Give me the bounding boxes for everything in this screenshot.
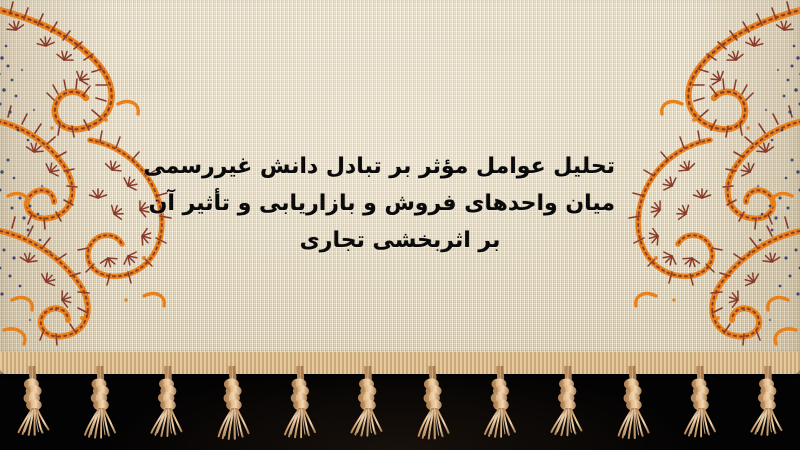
tassel	[743, 365, 791, 450]
tassel	[77, 366, 123, 450]
tassel	[677, 366, 723, 450]
tassel	[343, 365, 391, 450]
tassel	[477, 366, 523, 450]
tassel	[9, 365, 57, 450]
tassel	[143, 365, 191, 450]
tassel	[409, 365, 457, 450]
tassel	[609, 365, 657, 450]
title-block: تحلیل عوامل مؤثر بر تبادل دانش غیررسمی م…	[185, 148, 615, 259]
tassel	[277, 366, 323, 450]
title-card: تحلیل عوامل مؤثر بر تبادل دانش غیررسمی م…	[0, 0, 800, 450]
tassel	[543, 365, 591, 450]
title-line-2: میان واحدهای فروش و بازاریابی و تأثیر آن	[185, 185, 615, 222]
knotted-tassel-fringe	[0, 366, 800, 450]
tassel	[209, 365, 257, 450]
title-line-3: بر اثربخشی تجاری	[185, 222, 615, 259]
title-line-1: تحلیل عوامل مؤثر بر تبادل دانش غیررسمی	[185, 148, 615, 185]
